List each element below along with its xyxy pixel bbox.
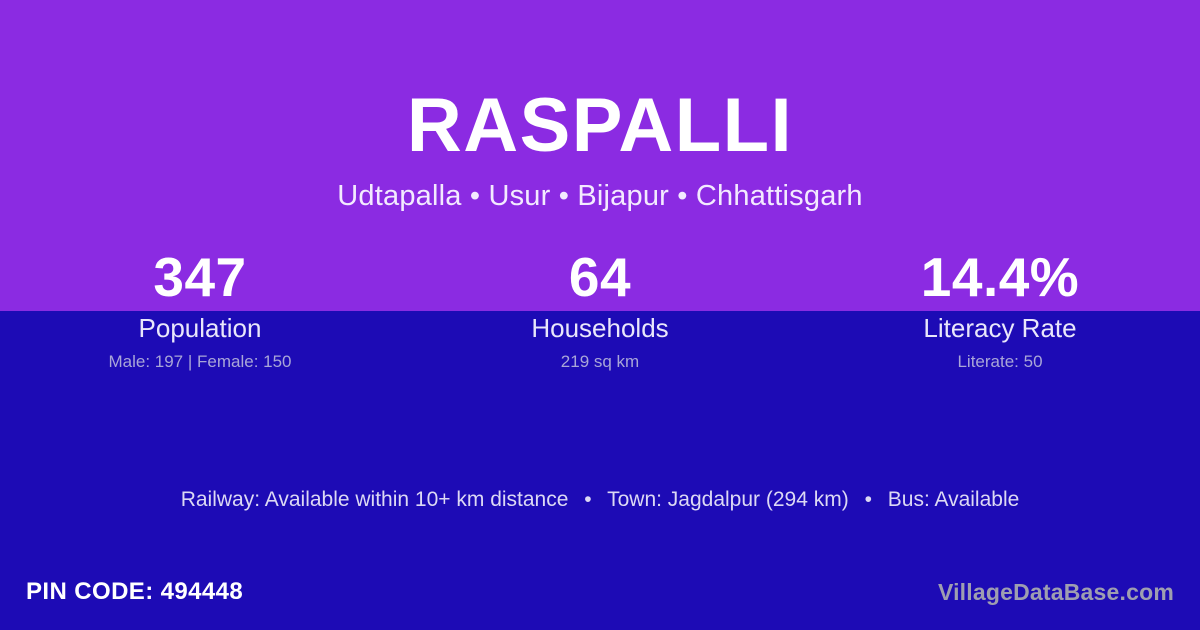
site-brand-watermark: VillageDataBase.com bbox=[938, 577, 1174, 607]
infra-separator-2: • bbox=[855, 485, 882, 515]
population-value: 347 bbox=[0, 244, 400, 310]
population-breakdown: Male: 197 | Female: 150 bbox=[0, 351, 400, 373]
infra-separator-1: • bbox=[574, 485, 601, 515]
pin-code-label: PIN CODE: 494448 bbox=[26, 577, 243, 607]
statistics-row: 347 Population Male: 197 | Female: 150 6… bbox=[0, 244, 1200, 373]
literacy-rate-label: Literacy Rate bbox=[800, 312, 1200, 344]
stat-households: 64 Households 219 sq km bbox=[400, 244, 800, 373]
population-label: Population bbox=[0, 312, 400, 344]
infra-nearest-town: Town: Jagdalpur (294 km) bbox=[607, 488, 849, 511]
infra-railway: Railway: Available within 10+ km distanc… bbox=[181, 488, 569, 511]
card-header: RASPALLI Udtapalla • Usur • Bijapur • Ch… bbox=[0, 0, 1200, 214]
literate-count-detail: Literate: 50 bbox=[800, 351, 1200, 373]
stat-population: 347 Population Male: 197 | Female: 150 bbox=[0, 244, 400, 373]
literacy-rate-value: 14.4% bbox=[800, 244, 1200, 310]
village-name-title: RASPALLI bbox=[0, 0, 1200, 170]
card-footer: PIN CODE: 494448 VillageDataBase.com bbox=[0, 560, 1200, 630]
village-location-breadcrumb: Udtapalla • Usur • Bijapur • Chhattisgar… bbox=[0, 170, 1200, 214]
households-value: 64 bbox=[400, 244, 800, 310]
infrastructure-row: Railway: Available within 10+ km distanc… bbox=[0, 485, 1200, 515]
households-label: Households bbox=[400, 312, 800, 344]
area-detail: 219 sq km bbox=[400, 351, 800, 373]
infra-bus: Bus: Available bbox=[888, 488, 1020, 511]
village-info-card: RASPALLI Udtapalla • Usur • Bijapur • Ch… bbox=[0, 0, 1200, 630]
stat-literacy-rate: 14.4% Literacy Rate Literate: 50 bbox=[800, 244, 1200, 373]
